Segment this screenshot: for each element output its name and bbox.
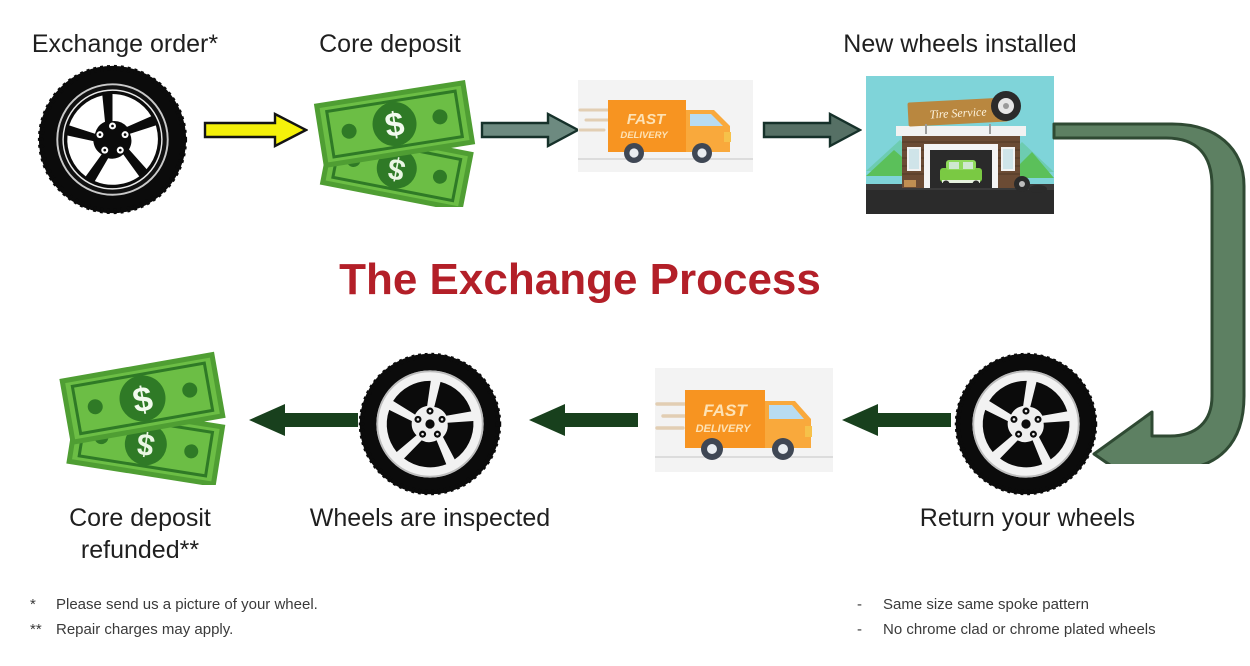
- footnote-right-item: - No chrome clad or chrome plated wheels: [857, 617, 1250, 642]
- footnotes-right: - Same size same spoke pattern - No chro…: [857, 592, 1250, 642]
- label-return-your-wheels: Return your wheels: [890, 502, 1165, 534]
- label-core-deposit-refunded: Core deposit refunded**: [30, 502, 250, 566]
- label-exchange-order: Exchange order*: [0, 28, 250, 60]
- wheel-light-icon-inspected: [356, 350, 504, 498]
- tire-service-garage-image: Tire Service: [866, 76, 1054, 214]
- delivery-truck-image-return: FAST DELIVERY: [655, 368, 833, 472]
- svg-text:DELIVERY: DELIVERY: [620, 130, 669, 141]
- arrow-order-to-deposit: [203, 110, 308, 150]
- money-icon: $ $: [305, 72, 485, 207]
- delivery-truck-image: FAST DELIVERY: [578, 80, 753, 172]
- footnote-mark: **: [30, 617, 56, 642]
- footnotes-left: * Please send us a picture of your wheel…: [30, 592, 550, 642]
- arrow-truck-to-garage: [762, 110, 862, 150]
- label-new-wheels-installed: New wheels installed: [800, 28, 1120, 60]
- footnote-text: Repair charges may apply.: [56, 617, 233, 642]
- footnote-text: Same size same spoke pattern: [883, 592, 1089, 617]
- footnote-right-item: - Same size same spoke pattern: [857, 592, 1250, 617]
- footnote-mark: *: [30, 592, 56, 617]
- footnote-left-item: * Please send us a picture of your wheel…: [30, 592, 550, 617]
- footnote-text: Please send us a picture of your wheel.: [56, 592, 318, 617]
- money-icon-refund: $ $: [53, 345, 238, 485]
- footnote-mark: -: [857, 592, 883, 617]
- wheel-light-icon-return: [952, 350, 1100, 498]
- page-title: The Exchange Process: [0, 255, 1160, 305]
- footnote-mark: -: [857, 617, 883, 642]
- footnote-left-item: ** Repair charges may apply.: [30, 617, 550, 642]
- arrow-return-to-truck: [838, 400, 953, 440]
- svg-text:DELIVERY: DELIVERY: [696, 423, 752, 435]
- svg-text:FAST: FAST: [703, 401, 748, 420]
- arrow-truck-to-inspected: [525, 400, 640, 440]
- wheel-dark-icon: [35, 62, 190, 217]
- arrow-inspected-to-refund: [245, 400, 360, 440]
- exchange-process-diagram: Exchange order*: [0, 0, 1250, 666]
- label-core-deposit: Core deposit: [275, 28, 505, 60]
- label-wheels-inspected: Wheels are inspected: [290, 502, 570, 534]
- footnote-text: No chrome clad or chrome plated wheels: [883, 617, 1156, 642]
- arrow-deposit-to-truck: [480, 110, 580, 150]
- svg-text:FAST: FAST: [627, 111, 667, 128]
